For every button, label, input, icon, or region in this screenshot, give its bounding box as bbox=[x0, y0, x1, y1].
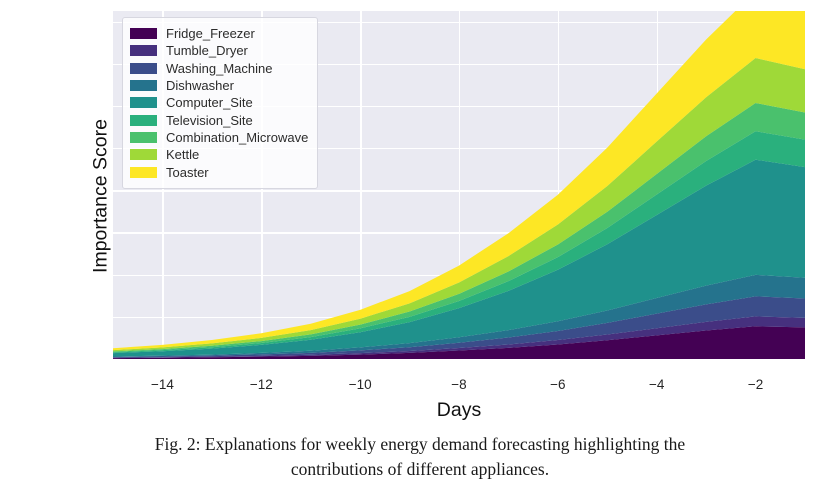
legend-swatch-icon bbox=[130, 80, 157, 91]
legend-label: Fridge_Freezer bbox=[166, 26, 255, 41]
legend-label: Toaster bbox=[166, 165, 209, 180]
legend-label: Dishwasher bbox=[166, 78, 234, 93]
legend-item: Fridge_Freezer bbox=[130, 25, 308, 42]
legend-label: Television_Site bbox=[166, 113, 253, 128]
chart-legend: Fridge_FreezerTumble_DryerWashing_Machin… bbox=[122, 17, 318, 189]
gridline-horizontal bbox=[113, 359, 805, 360]
x-tick-label: −4 bbox=[622, 377, 692, 392]
y-axis-label: Importance Score bbox=[90, 119, 113, 273]
x-axis-label: Days bbox=[113, 399, 805, 422]
x-tick-label: −6 bbox=[523, 377, 593, 392]
legend-swatch-icon bbox=[130, 45, 157, 56]
x-tick-label: −8 bbox=[424, 377, 494, 392]
legend-label: Computer_Site bbox=[166, 95, 253, 110]
figure-caption: Fig. 2: Explanations for weekly energy d… bbox=[0, 432, 840, 482]
legend-label: Combination_Microwave bbox=[166, 130, 308, 145]
legend-item: Washing_Machine bbox=[130, 60, 308, 77]
legend-item: Computer_Site bbox=[130, 94, 308, 111]
legend-item: Dishwasher bbox=[130, 77, 308, 94]
x-tick-label: −2 bbox=[721, 377, 791, 392]
x-tick-label: −14 bbox=[127, 377, 197, 392]
legend-swatch-icon bbox=[130, 132, 157, 143]
x-tick-label: −10 bbox=[325, 377, 395, 392]
legend-swatch-icon bbox=[130, 28, 157, 39]
legend-label: Kettle bbox=[166, 147, 199, 162]
legend-item: Toaster bbox=[130, 163, 308, 180]
legend-swatch-icon bbox=[130, 63, 157, 74]
caption-line-2: contributions of different appliances. bbox=[0, 457, 840, 482]
x-tick-label: −12 bbox=[226, 377, 296, 392]
legend-swatch-icon bbox=[130, 149, 157, 160]
legend-label: Washing_Machine bbox=[166, 61, 272, 76]
legend-item: Combination_Microwave bbox=[130, 129, 308, 146]
legend-item: Kettle bbox=[130, 146, 308, 163]
legend-label: Tumble_Dryer bbox=[166, 43, 248, 58]
plot-area: 0.0000.0020.0040.0060.0080.0100.0120.014… bbox=[113, 11, 805, 359]
legend-swatch-icon bbox=[130, 167, 157, 178]
figure-container: 0.0000.0020.0040.0060.0080.0100.0120.014… bbox=[0, 0, 840, 425]
legend-swatch-icon bbox=[130, 97, 157, 108]
legend-swatch-icon bbox=[130, 115, 157, 126]
caption-line-1: Fig. 2: Explanations for weekly energy d… bbox=[0, 432, 840, 457]
legend-item: Tumble_Dryer bbox=[130, 42, 308, 59]
legend-item: Television_Site bbox=[130, 111, 308, 128]
